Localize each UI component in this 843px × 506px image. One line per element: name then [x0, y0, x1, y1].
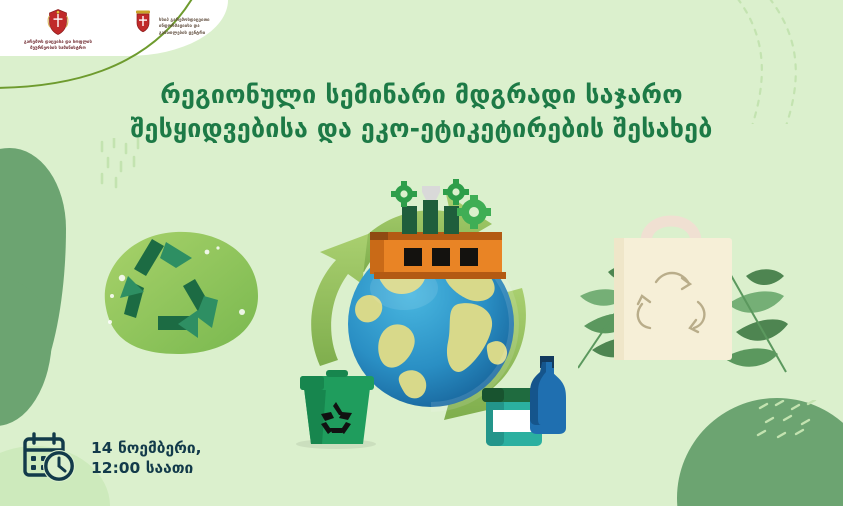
title-line-1: რეგიონული სემინარი მდგრადი საჯარო [70, 78, 773, 112]
logo-ministry: გარემოს დაცვისა და სოფლის მეურნეობის სამ… [10, 8, 106, 52]
logo-eiec-caption: სსიპ გარემოსდაცვითი ინფორმაციისა და განა… [159, 17, 210, 36]
recycle-symbol-illustration [92, 222, 270, 370]
georgia-coat-of-arms-icon [47, 8, 69, 36]
dash-cluster-bottom-right [756, 400, 830, 448]
event-datetime: 14 ნოემბერი, 12:00 საათი [22, 432, 202, 484]
recycling-bin-icon [296, 370, 376, 449]
eco-tote-bag-illustration [578, 200, 788, 380]
decorative-blob-left [0, 148, 66, 416]
poster-canvas: გარემოს დაცვისა და სოფლის მეურნეობის სამ… [0, 0, 843, 506]
decorative-blob-bottom-right [677, 398, 843, 506]
logo-ministry-caption: გარემოს დაცვისა და სოფლის მეურნეობის სამ… [24, 39, 92, 52]
georgia-coat-of-arms-icon [132, 8, 154, 36]
poster-title: რეგიონული სემინარი მდგრადი საჯარო შესყიდ… [0, 78, 843, 145]
event-datetime-text: 14 ნოემბერი, 12:00 საათი [91, 438, 202, 478]
decorative-blob-left-lower [0, 276, 52, 426]
logo-eiec: სსიპ გარემოსდაცვითი ინფორმაციისა და განა… [132, 8, 236, 36]
globe-recycling-cycle-illustration [286, 176, 576, 462]
event-time: 12:00 საათი [91, 459, 193, 477]
tote-bag-icon [614, 221, 732, 360]
calendar-clock-icon [22, 432, 80, 484]
dash-cluster-left [96, 138, 166, 194]
title-line-2: შესყიდვებისა და ეკო-ეტიკეტირების შესახებ [70, 112, 773, 146]
logo-row: გარემოს დაცვისა და სოფლის მეურნეობის სამ… [10, 8, 236, 52]
event-date: 14 ნოემბერი, [91, 439, 202, 457]
